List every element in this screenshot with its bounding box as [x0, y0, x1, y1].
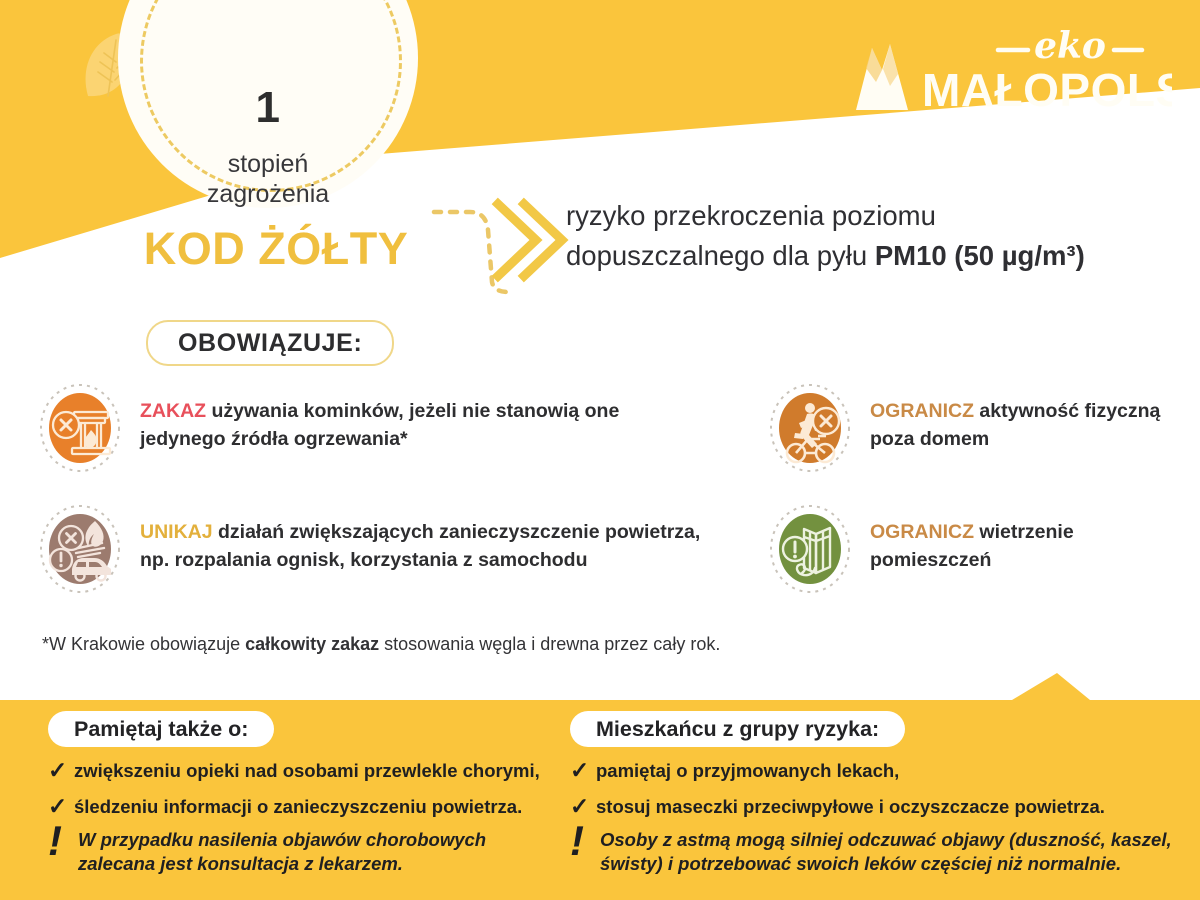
list-item: ✓ pamiętaj o przyjmowanych lekach, — [570, 757, 1180, 785]
obligation-line2: poza domem — [870, 425, 1160, 453]
obligation-line1: używania kominków, jeżeli nie stanowią o… — [206, 400, 619, 422]
bottom-left-check-list: ✓ zwiększeniu opieki nad osobami przewle… — [48, 757, 558, 828]
bottom-right-title-pill: Mieszkańcu z grupy ryzyka: — [570, 711, 905, 747]
obligation-keyword: UNIKAJ — [140, 521, 213, 543]
check-mark-icon: ✓ — [48, 757, 74, 785]
campfire-car-prohibited-icon — [38, 503, 122, 595]
warning-line2: zalecana jest konsultacja z lekarzem. — [78, 853, 403, 874]
obligation-text-campfire-car: UNIKAJ działań zwiększających zanieczysz… — [140, 503, 700, 575]
open-window-warning-icon — [768, 503, 852, 595]
list-item: ✓ stosuj maseczki przeciwpyłowe i oczysz… — [570, 793, 1180, 821]
obligation-line2: pomieszczeń — [870, 546, 1074, 574]
obligation-line1: działań zwiększających zanieczyszczenie … — [213, 521, 701, 543]
list-item: ✓ śledzeniu informacji o zanieczyszczeni… — [48, 793, 558, 821]
obligation-keyword: ZAKAZ — [140, 400, 206, 422]
risk-description: ryzyko przekroczenia poziomu dopuszczaln… — [566, 196, 1200, 276]
exclamation-mark-icon: ! — [48, 824, 78, 858]
obligation-text-physical-activity: OGRANICZ aktywność fizyczną poza domem — [870, 382, 1160, 454]
footnote-prefix: *W Krakowie obowiązuje — [42, 634, 245, 654]
obowiazuje-badge: OBOWIĄZUJE: — [146, 320, 394, 366]
bottom-left-warning: ! W przypadku nasilenia objawów chorobow… — [48, 824, 548, 876]
warning-line1: Osoby z astmą mogą silniej odczuwać obja… — [600, 829, 1172, 850]
risk-pm10-value: PM10 (50 µg/m³) — [875, 240, 1085, 271]
degree-number: 1 — [118, 86, 418, 130]
double-chevron-right-icon — [490, 190, 570, 290]
obligation-keyword: OGRANICZ — [870, 521, 974, 543]
bottom-right-warning: ! Osoby z astmą mogą silniej odczuwać ob… — [570, 824, 1190, 876]
bottom-left-warning-text: W przypadku nasilenia objawów chorobowyc… — [78, 824, 486, 876]
brand-name-text: MAŁOPOLSKA — [922, 64, 1172, 116]
obligation-item-fireplace: ZAKAZ używania kominków, jeżeli nie stan… — [38, 382, 698, 474]
obligation-item-campfire-car: UNIKAJ działań zwiększających zanieczysz… — [38, 503, 738, 595]
brand-logo: eko MAŁOPOLSKA — [842, 22, 1172, 118]
code-title: KOD ŻÓŁTY — [96, 226, 456, 271]
warning-line2: świsty) i potrzebować swoich leków częśc… — [600, 853, 1121, 874]
risk-line-1: ryzyko przekroczenia poziomu — [566, 196, 1200, 236]
footnote-suffix: stosowania węgla i drewna przez cały rok… — [379, 634, 720, 654]
mountain-logo-icon — [856, 44, 908, 110]
risk-line-2: dopuszczalnego dla pyłu PM10 (50 µg/m³) — [566, 236, 1200, 276]
list-item-label: śledzeniu informacji o zanieczyszczeniu … — [74, 793, 522, 818]
fireplace-prohibited-icon — [38, 382, 122, 474]
warning-line1: W przypadku nasilenia objawów chorobowyc… — [78, 829, 486, 850]
brand-eko-text: eko — [1034, 25, 1106, 67]
degree-label-line2: zagrożenia — [118, 180, 418, 210]
obligation-text-fireplace: ZAKAZ używania kominków, jeżeli nie stan… — [140, 382, 619, 454]
list-item-label: stosuj maseczki przeciwpyłowe i oczyszcz… — [596, 793, 1105, 818]
list-item-label: zwiększeniu opieki nad osobami przewlekl… — [74, 757, 540, 782]
infographic-poster: eko MAŁOPOLSKA 1 stopień zagrożenia KOD … — [0, 0, 1200, 900]
bottom-right-check-list: ✓ pamiętaj o przyjmowanych lekach, ✓ sto… — [570, 757, 1180, 828]
runner-cyclist-prohibited-icon — [768, 382, 852, 474]
obligation-line1: aktywność fizyczną — [974, 400, 1160, 422]
obligation-keyword: OGRANICZ — [870, 400, 974, 422]
list-item-label: pamiętaj o przyjmowanych lekach, — [596, 757, 899, 782]
obligation-line1: wietrzenie — [974, 521, 1074, 543]
obligation-line2: jedynego źródła ogrzewania* — [140, 425, 619, 453]
degree-label-line1: stopień — [118, 150, 418, 180]
risk-line-2-prefix: dopuszczalnego dla pyłu — [566, 240, 875, 271]
footnote-strong: całkowity zakaz — [245, 634, 379, 654]
footnote: *W Krakowie obowiązuje całkowity zakaz s… — [42, 632, 802, 657]
exclamation-mark-icon: ! — [570, 824, 600, 858]
obligation-item-physical-activity: OGRANICZ aktywność fizyczną poza domem — [768, 382, 1188, 474]
obligation-item-ventilation: OGRANICZ wietrzenie pomieszczeń — [768, 503, 1188, 595]
list-item: ✓ zwiększeniu opieki nad osobami przewle… — [48, 757, 558, 785]
obligation-line2: np. rozpalania ognisk, korzystania z sam… — [140, 546, 700, 574]
check-mark-icon: ✓ — [570, 757, 596, 785]
obligation-text-ventilation: OGRANICZ wietrzenie pomieszczeń — [870, 503, 1074, 575]
bottom-left-title-pill: Pamiętaj także o: — [48, 711, 274, 747]
bottom-right-warning-text: Osoby z astmą mogą silniej odczuwać obja… — [600, 824, 1172, 876]
